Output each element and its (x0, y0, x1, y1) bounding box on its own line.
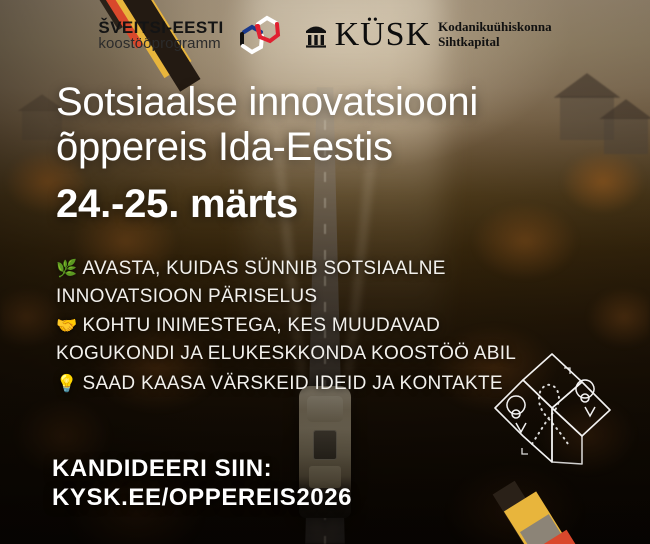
call-to-action[interactable]: Kandideeri siin: kysk.ee/oppereis2026 (52, 455, 352, 513)
page-title: Sotsiaalse innovatsiooni õppereis Ida-Ee… (56, 80, 596, 170)
headline-line-2: õppereis Ida-Eestis (56, 125, 596, 170)
list-item-text: Saad kaasa värskeid ideid ja kontakte (82, 373, 502, 394)
list-item: 💡Saad kaasa värskeid ideid ja kontakte (56, 370, 526, 398)
kusk-subtitle-line1: Kodanikuühiskonna (438, 20, 551, 35)
light-bulb-emoji: 💡 (56, 374, 77, 393)
cta-label: Kandideeri siin: (52, 455, 352, 484)
list-item-text: Kohtu inimestega, kes muudavad kogukondi… (56, 315, 516, 364)
event-date: 24.-25. märts (56, 182, 298, 226)
interlocking-hexagons-mark (234, 12, 286, 58)
herb-emoji: 🌿 (56, 259, 77, 278)
list-item: 🤝Kohtu inimestega, kes muudavad kogukond… (56, 312, 526, 367)
logo-bar: ŠVEITSI-EESTI koostööprogramm (0, 9, 650, 61)
sveitsi-eesti-logo: ŠVEITSI-EESTI koostööprogramm (98, 12, 285, 58)
benefits-list: 🌿Avasta, kuidas sünnib sotsiaalne innova… (56, 255, 526, 400)
kusk-subtitle: Kodanikuühiskonna Sihtkapital (438, 20, 551, 49)
poster-content: Sotsiaalse innovatsiooni õppereis Ida-Ee… (0, 0, 650, 544)
kusk-logo: KÜSK Kodanikuühiskonna Sihtkapital (304, 18, 552, 52)
headline-line-1: Sotsiaalse innovatsiooni (56, 80, 596, 125)
poster: ŠVEITSI-EESTI koostööprogramm (0, 0, 650, 544)
kusk-wordmark: KÜSK (335, 18, 432, 52)
list-item-text: Avasta, kuidas sünnib sotsiaalne innovat… (56, 258, 446, 307)
list-item: 🌿Avasta, kuidas sünnib sotsiaalne innova… (56, 255, 526, 310)
cta-url[interactable]: kysk.ee/oppereis2026 (52, 484, 352, 513)
handshake-emoji: 🤝 (56, 316, 77, 335)
sveitsi-eesti-wordmark: ŠVEITSI-EESTI koostööprogramm (98, 19, 223, 52)
kusk-subtitle-line2: Sihtkapital (438, 35, 551, 50)
sveitsi-eesti-line1: ŠVEITSI-EESTI (98, 19, 223, 36)
sveitsi-eesti-line2: koostööprogramm (98, 36, 223, 51)
classical-building-icon (304, 22, 328, 48)
